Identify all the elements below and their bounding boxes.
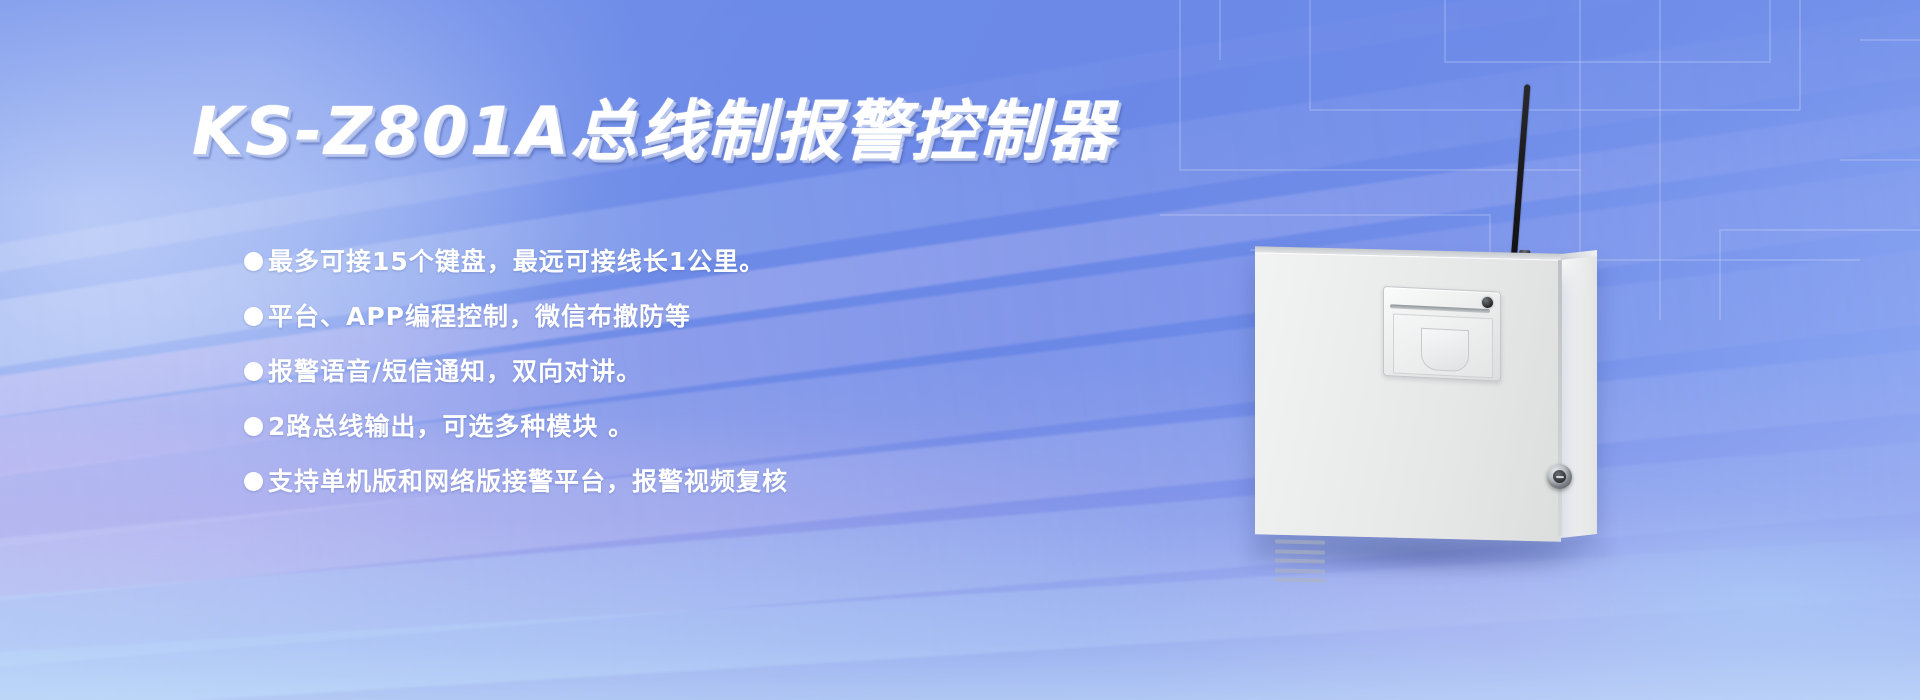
vent-slot: [1275, 558, 1325, 563]
keypad-module: [1383, 286, 1501, 382]
keypad-inner-frame: [1393, 313, 1493, 378]
list-item: 最多可接15个键盘，最远可接线长1公里。: [244, 238, 788, 285]
lock-keyway: [1556, 475, 1564, 477]
list-item: 报警语音/短信通知，双向对讲。: [244, 348, 788, 395]
feature-text: 平台、APP编程控制，微信布撤防等: [268, 293, 691, 340]
vent-slot: [1275, 539, 1325, 544]
lock-core: [1553, 470, 1566, 483]
bullet-dot-icon: [244, 307, 263, 326]
alarm-control-panel-image: [1255, 248, 1620, 543]
door-lock-icon: [1547, 464, 1572, 490]
bullet-dot-icon: [244, 362, 263, 381]
feature-text: 2路总线输出，可选多种模块 。: [268, 403, 634, 450]
bullet-dot-icon: [244, 417, 263, 436]
bullet-dot-icon: [244, 252, 263, 271]
bullet-dot-icon: [244, 472, 263, 491]
led-indicator-icon: [1482, 297, 1493, 309]
enclosure-side-panel: [1561, 256, 1597, 538]
page-title: KS-Z801A总线制报警控制器: [192, 78, 1115, 174]
keypad-slot: [1390, 304, 1490, 313]
vent-slot: [1275, 549, 1325, 554]
list-item: 支持单机版和网络版接警平台，报警视频复核: [244, 458, 788, 505]
feature-text: 报警语音/短信通知，双向对讲。: [268, 348, 642, 395]
enclosure-front-door: [1255, 252, 1561, 541]
feature-text: 支持单机版和网络版接警平台，报警视频复核: [268, 458, 788, 505]
keypad-pull-tab: [1421, 328, 1469, 372]
list-item: 平台、APP编程控制，微信布撤防等: [244, 293, 788, 340]
vent-slot: [1275, 568, 1325, 573]
vent-slots: [1275, 539, 1325, 582]
feature-text: 最多可接15个键盘，最远可接线长1公里。: [268, 238, 765, 285]
enclosure-seam: [1558, 260, 1562, 536]
list-item: 2路总线输出，可选多种模块 。: [244, 403, 788, 450]
feature-list: 最多可接15个键盘，最远可接线长1公里。 平台、APP编程控制，微信布撤防等 报…: [244, 238, 788, 505]
product-banner: KS-Z801A总线制报警控制器 最多可接15个键盘，最远可接线长1公里。 平台…: [0, 0, 1920, 700]
